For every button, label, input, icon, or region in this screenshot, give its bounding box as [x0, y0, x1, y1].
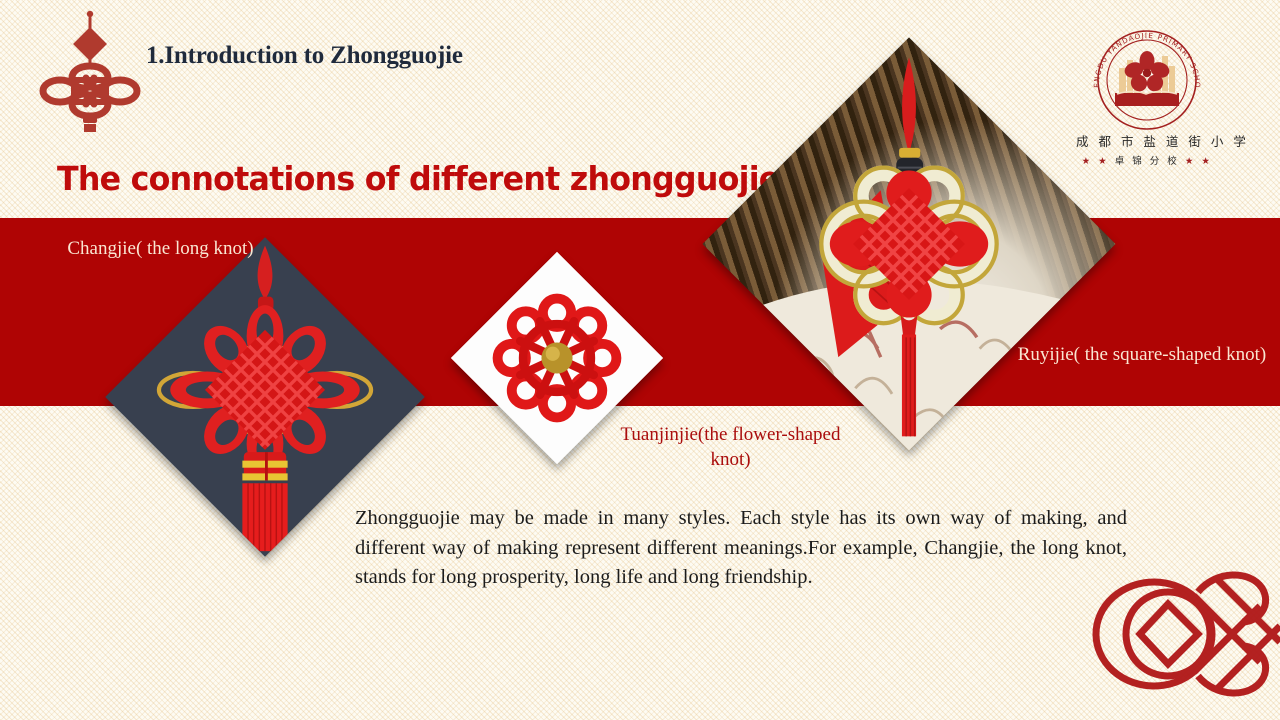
caption-ruyijie: Ruyijie( the square-shaped knot): [1009, 342, 1275, 367]
section-heading: The connotations of different zhongguoji…: [57, 159, 780, 198]
caption-changjie: Changjie( the long knot): [58, 236, 263, 261]
chinese-knot-outline-icon: [1090, 534, 1280, 720]
chinese-knot-icon: [36, 8, 144, 132]
logo-campus-name: ★ ★ 卓 锦 分 校 ★ ★: [1076, 153, 1218, 167]
school-logo: CHENGDU YANDAOJIE PRIMARY SCHOOL: [1076, 28, 1218, 160]
caption-tuanjinjie: Tuanjinjie(the flower-shaped knot): [603, 422, 858, 472]
page-title: 1.Introduction to Zhongguojie: [146, 42, 463, 70]
body-paragraph: Zhongguojie may be made in many styles. …: [355, 504, 1127, 593]
logo-campus-label: 卓 锦 分 校: [1115, 156, 1180, 167]
slide-canvas: 1.Introduction to Zhongguojie CHENGDU YA…: [0, 0, 1280, 720]
star-icon: ★ ★: [1185, 156, 1213, 167]
logo-school-name: 成 都 市 盐 道 街 小 学: [1076, 131, 1218, 150]
logo-seal-icon: CHENGDU YANDAOJIE PRIMARY SCHOOL: [1087, 28, 1207, 130]
star-icon: ★ ★: [1082, 156, 1110, 167]
